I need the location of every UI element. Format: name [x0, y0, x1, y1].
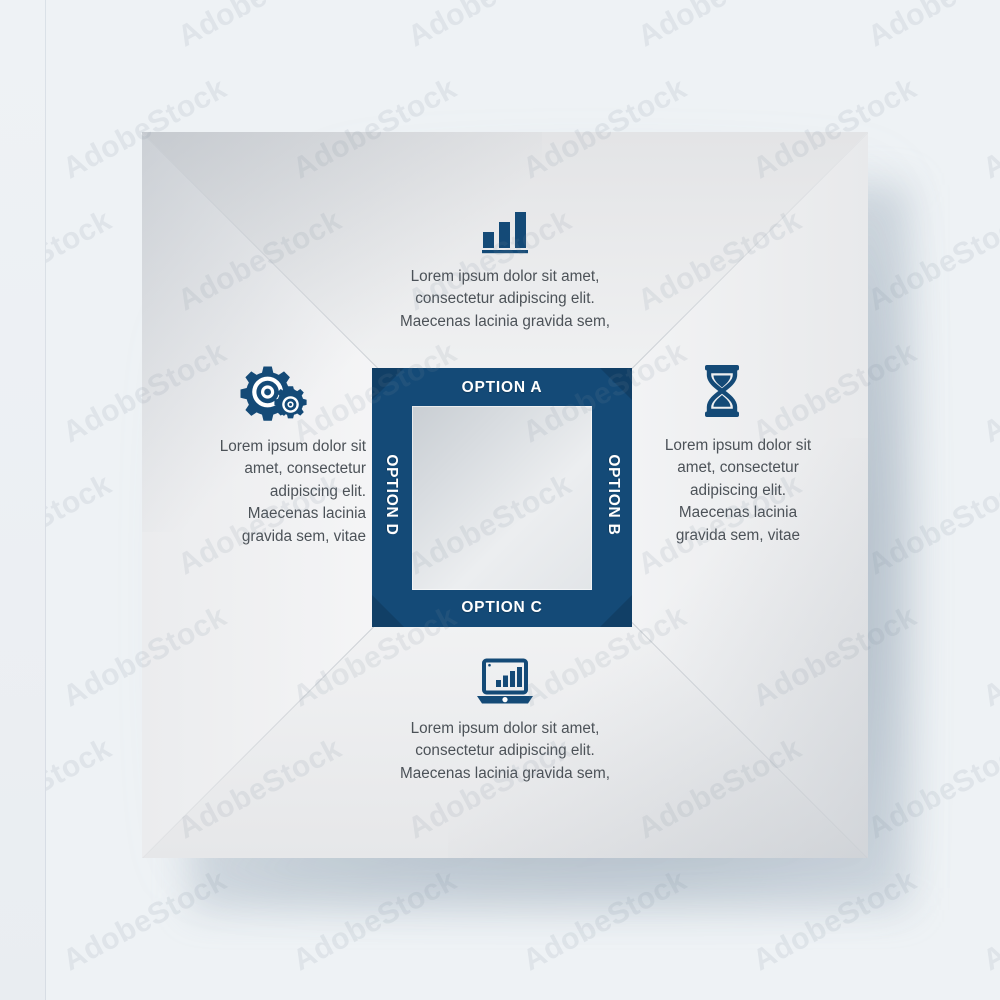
option-block-d-text: Lorem ipsum dolor sit amet, consectetur …: [170, 436, 366, 548]
watermark-tile: AdobeStock: [403, 0, 578, 54]
watermark-tile: AdobeStock: [978, 336, 1000, 451]
center-placeholder-area: [412, 406, 592, 590]
watermark-tile: AdobeStock: [173, 996, 348, 1000]
option-b-label[interactable]: OPTION B: [604, 435, 622, 555]
watermark-tile: AdobeStock: [403, 996, 578, 1000]
watermark-tile: AdobeStock: [633, 996, 808, 1000]
watermark-tile: AdobeStock: [173, 0, 348, 54]
option-block-c[interactable]: Lorem ipsum dolor sit amet, consectetur …: [375, 652, 635, 785]
strip-divider: [45, 0, 46, 1000]
option-c-label[interactable]: OPTION C: [372, 599, 632, 617]
option-d-label[interactable]: OPTION D: [382, 435, 400, 555]
option-block-a-text: Lorem ipsum dolor sit amet, consectetur …: [375, 266, 635, 333]
option-block-a[interactable]: Lorem ipsum dolor sit amet, consectetur …: [375, 198, 635, 333]
gears-icon: [170, 362, 366, 422]
hourglass-icon: [640, 357, 836, 419]
watermark-tile: AdobeStock: [863, 0, 1000, 54]
option-a-label[interactable]: OPTION A: [372, 379, 632, 397]
watermark-tile: AdobeStock: [863, 996, 1000, 1000]
option-block-d[interactable]: Lorem ipsum dolor sit amet, consectetur …: [170, 362, 366, 548]
option-block-b[interactable]: Lorem ipsum dolor sit amet, consectetur …: [640, 357, 836, 547]
option-block-b-text: Lorem ipsum dolor sit amet, consectetur …: [640, 435, 836, 547]
option-block-c-text: Lorem ipsum dolor sit amet, consectetur …: [375, 718, 635, 785]
center-option-frame[interactable]: OPTION A OPTION B OPTION C OPTION D: [372, 368, 632, 627]
watermark-tile: AdobeStock: [978, 600, 1000, 715]
laptop-chart-icon: [375, 652, 635, 706]
watermark-tile: AdobeStock: [978, 72, 1000, 187]
bar-chart-icon: [375, 198, 635, 254]
infographic-canvas: Lorem ipsum dolor sit amet, consectetur …: [0, 0, 1000, 1000]
stock-watermark-strip: Adobe Stock | #318257453: [0, 0, 46, 1000]
watermark-tile: AdobeStock: [978, 864, 1000, 979]
watermark-tile: AdobeStock: [633, 0, 808, 54]
